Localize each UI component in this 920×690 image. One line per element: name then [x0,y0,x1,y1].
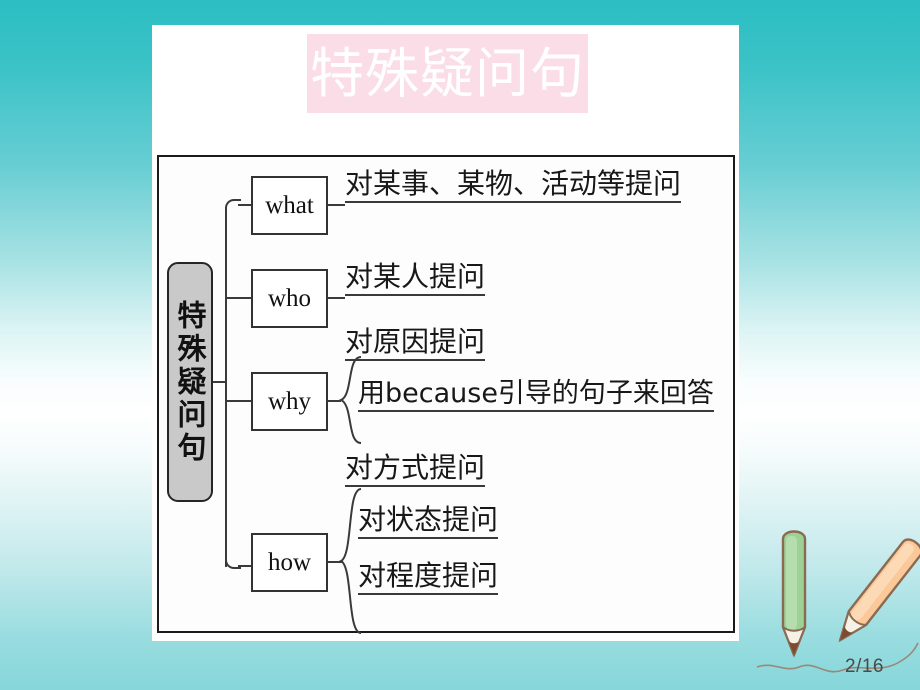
mindmap-node-why: why [251,372,328,431]
connector-trunk-corner-bottom [225,557,241,569]
pencil-green-icon [783,532,805,656]
pencils-decoration [755,515,920,690]
mindmap-leaf-why-1: 对原因提问 [345,327,485,361]
connector-stem-what [238,204,252,206]
slide-canvas: 特殊疑问句 特殊疑问句 what who why how 对某 [0,0,920,690]
mindmap-leaf-why-2: 用because引导的句子来回答 [358,379,714,412]
connector-trunk [225,207,227,567]
mindmap-node-what: what [251,176,328,235]
mindmap-leaf-what-1: 对某事、某物、活动等提问 [345,169,681,203]
pencil-orange-icon [832,536,920,647]
connector-stem-who [226,297,252,299]
mindmap-root-label: 特殊疑问句 [169,300,211,465]
page-indicator: 2/16 [845,656,884,678]
page-title: 特殊疑问句 [310,47,585,101]
mindmap-node-who: who [251,269,328,328]
connector-stem-why [226,400,252,402]
slide-title-banner: 特殊疑问句 [307,34,588,113]
mindmap-node-how: how [251,533,328,592]
mindmap-root-node: 特殊疑问句 [167,262,213,502]
squiggle-line [757,643,918,672]
connector-stem-how [238,565,252,567]
mindmap-leaf-how-1: 对方式提问 [345,453,485,487]
connector-out-who [327,297,345,299]
mindmap-leaf-how-2: 对状态提问 [358,505,498,539]
mindmap-leaf-how-3: 对程度提问 [358,561,498,595]
mindmap-diagram: 特殊疑问句 what who why how 对某事、某物、活动等提问 对某人提… [157,155,735,633]
mindmap-leaf-who-1: 对某人提问 [345,262,485,296]
connector-out-what [327,204,345,206]
